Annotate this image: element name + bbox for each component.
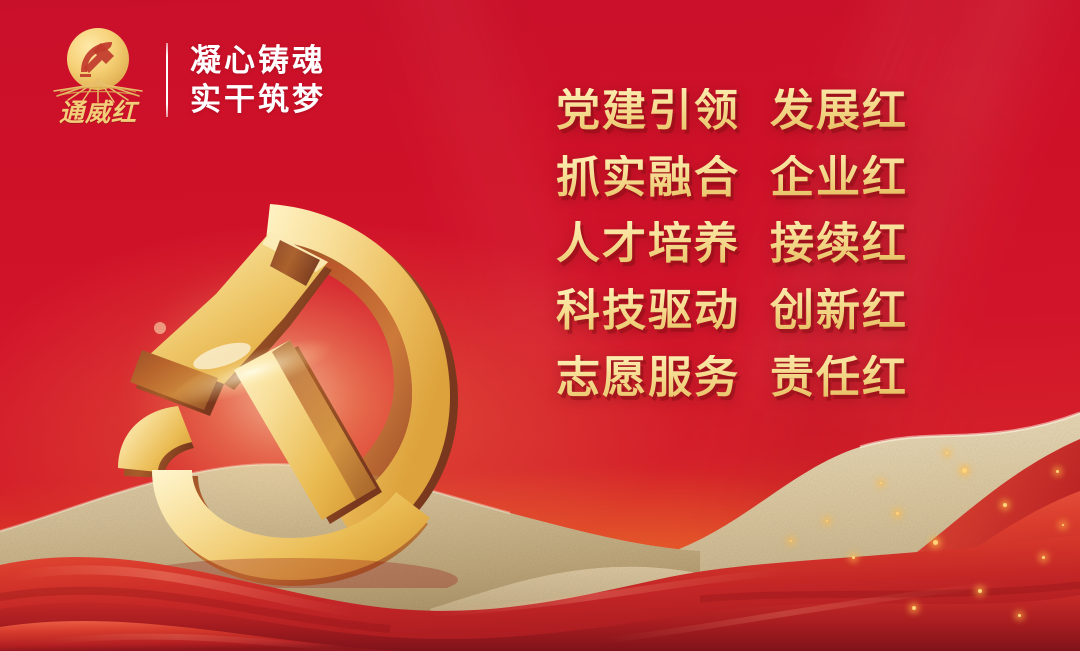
- slogan-right: 发展红: [770, 88, 908, 135]
- slogan-right: 创新红: [770, 288, 908, 335]
- slogan-line: 人才培养 接续红: [556, 221, 908, 268]
- slogan-left: 志愿服务: [556, 355, 740, 402]
- slogan-line: 科技驱动 创新红: [556, 288, 908, 335]
- logo-tagline: 凝心铸魂 实干筑梦: [190, 44, 326, 116]
- slogan-right: 企业红: [770, 155, 908, 202]
- banner-root: 通威红 凝心铸魂 实干筑梦 党建引领 发展红 抓实融合 企业红 人才培养 接续红…: [0, 0, 1080, 651]
- slogan-line: 党建引领 发展红: [556, 88, 908, 135]
- slogan-left: 科技驱动: [556, 288, 740, 335]
- logo-lockup: 通威红 凝心铸魂 实干筑梦: [52, 26, 326, 134]
- slogan-left: 抓实融合: [556, 155, 740, 202]
- slogan-left: 人才培养: [556, 221, 740, 268]
- slogan-left: 党建引领: [556, 88, 740, 135]
- slogan-right: 责任红: [770, 355, 908, 402]
- logo-divider: [166, 43, 168, 117]
- brand-name: 通威红: [52, 100, 144, 125]
- red-silk-ribbon-icon: [0, 351, 1080, 651]
- brand-logo-mark: 通威红: [52, 26, 144, 134]
- slogan-line: 志愿服务 责任红: [556, 355, 908, 402]
- tagline-line-1: 凝心铸魂: [190, 44, 326, 77]
- slogan-list: 党建引领 发展红 抓实融合 企业红 人才培养 接续红 科技驱动 创新红 志愿服务…: [556, 88, 908, 401]
- slogan-line: 抓实融合 企业红: [556, 155, 908, 202]
- slogan-right: 接续红: [770, 221, 908, 268]
- tagline-line-2: 实干筑梦: [190, 83, 326, 116]
